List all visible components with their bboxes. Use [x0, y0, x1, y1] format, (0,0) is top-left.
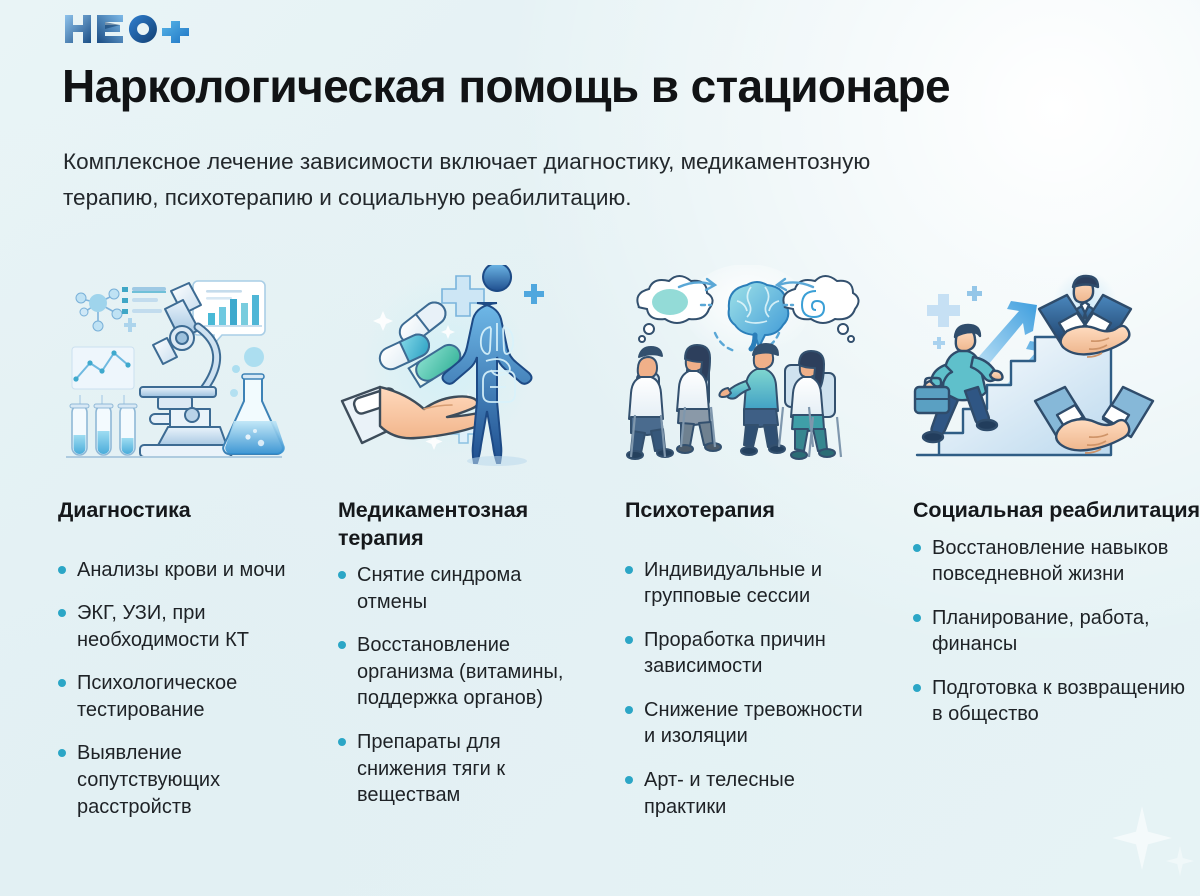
- bullet-list: Снятие синдрома отмены Восстановление ор…: [338, 562, 580, 809]
- content-columns: Диагностика Анализы крови и мочи ЭКГ, УЗ…: [0, 265, 1200, 880]
- list-item: Анализы крови и мочи: [58, 557, 290, 584]
- column-psychotherapy: Психотерапия Индивидуальные и групповые …: [580, 265, 870, 880]
- page-title: Наркологическая помощь в стационаре: [62, 62, 1162, 112]
- column-heading: Социальная реабилитация: [913, 497, 1200, 525]
- column-social-rehabilitation: Социальная реабилитация Восстановление н…: [870, 265, 1200, 880]
- list-item: Восстановление навыков повседневной жизн…: [913, 535, 1200, 588]
- list-item: Планирование, работа, финансы: [913, 605, 1200, 658]
- brand-logo: [63, 12, 197, 46]
- career-handshake-icon: [913, 265, 1159, 470]
- column-heading: Психотерапия: [625, 497, 870, 525]
- bullet-list: Анализы крови и мочи ЭКГ, УЗИ, при необх…: [58, 557, 290, 821]
- list-item: Арт- и телесные практики: [625, 767, 870, 820]
- list-item: Выявление сопутствующих расстройств: [58, 740, 290, 820]
- list-item: Препараты для снижения тяги к веществам: [338, 729, 580, 809]
- list-item: Снятие синдрома отмены: [338, 562, 580, 615]
- list-item: Проработка причин зависимости: [625, 627, 870, 680]
- list-item: Подготовка к возвращению в общество: [913, 675, 1200, 728]
- page-subtitle: Комплексное лечение зависимости включает…: [63, 144, 963, 215]
- microscope-lab-icon: [58, 265, 296, 470]
- hand-with-pills-icon: [338, 265, 584, 470]
- column-heading: Медикаментозная терапия: [338, 497, 580, 552]
- column-heading: Диагностика: [58, 497, 290, 525]
- list-item: Индивидуальные и групповые сессии: [625, 557, 870, 610]
- list-item: Восстановление организма (витамины, подд…: [338, 632, 580, 712]
- list-item: Психологическое тестирование: [58, 670, 290, 723]
- list-item: Снижение тревожности и изоляции: [625, 697, 870, 750]
- column-medication: Медикаментозная терапия Снятие синдрома …: [290, 265, 580, 880]
- column-diagnostics: Диагностика Анализы крови и мочи ЭКГ, УЗ…: [0, 265, 290, 880]
- group-therapy-icon: [625, 265, 871, 470]
- bullet-list: Индивидуальные и групповые сессии Прораб…: [625, 557, 870, 821]
- bullet-list: Восстановление навыков повседневной жизн…: [913, 535, 1200, 729]
- list-item: ЭКГ, УЗИ, при необходимости КТ: [58, 600, 290, 653]
